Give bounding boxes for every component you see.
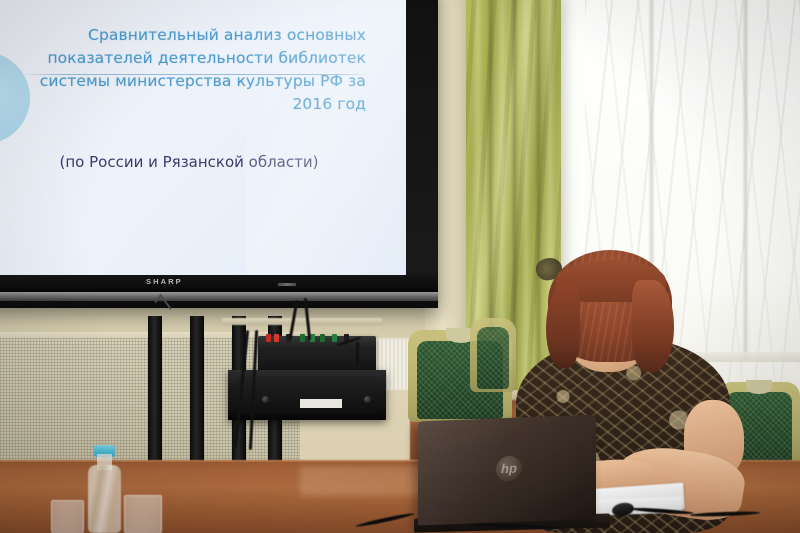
photo-scene: Сравнительный анализ основных показателе… <box>0 0 800 533</box>
green-connector <box>300 334 305 342</box>
presentation-slide: Сравнительный анализ основных показателе… <box>0 0 406 275</box>
cable <box>356 342 359 364</box>
amp-knob <box>262 396 269 403</box>
slide-subtitle: (по России и Рязанской области) <box>24 151 354 173</box>
display-indicator <box>278 283 296 286</box>
display-lower-strip <box>0 292 438 301</box>
display-screen: Сравнительный анализ основных показателе… <box>0 0 406 275</box>
drinking-glass[interactable] <box>124 495 162 533</box>
person-hair-left <box>546 284 580 368</box>
wall-display: Сравнительный анализ основных показателе… <box>0 0 438 316</box>
equipment-label <box>300 399 342 408</box>
av-shelf <box>222 318 382 325</box>
water-bottle[interactable] <box>88 465 121 533</box>
amp-knob <box>364 396 371 403</box>
green-connector <box>332 334 337 342</box>
av-amplifier-face <box>238 376 378 414</box>
slide-underline <box>20 74 366 75</box>
green-connector <box>320 334 325 342</box>
red-connector <box>274 334 279 342</box>
slide-title: Сравнительный анализ основных показателе… <box>36 24 366 116</box>
sharp-brand-label: SHARP <box>146 277 183 286</box>
person-hair-right <box>632 280 674 372</box>
red-connector <box>266 334 271 342</box>
laptop[interactable]: hp <box>418 415 596 526</box>
drinking-glass[interactable] <box>51 500 84 533</box>
